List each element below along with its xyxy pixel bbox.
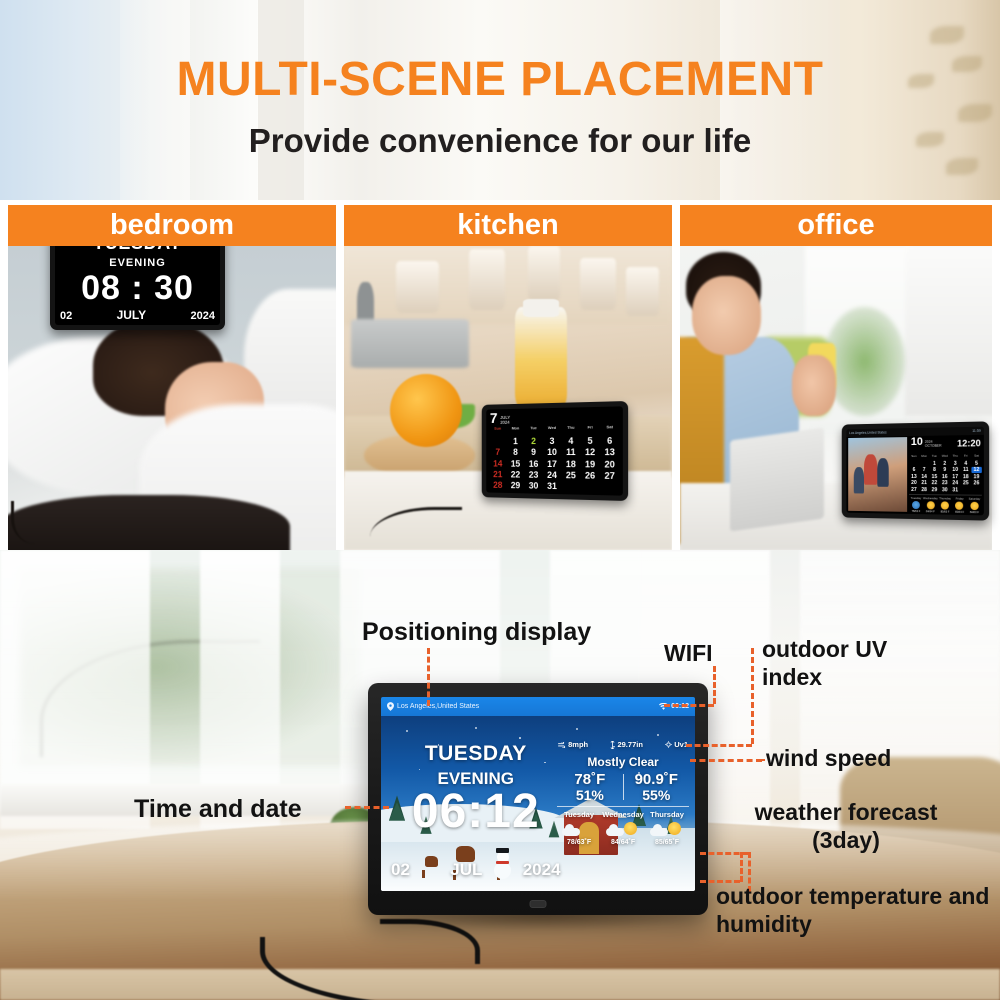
bedroom-time: 08 : 30 — [55, 269, 220, 308]
sun-icon — [926, 501, 934, 509]
forecast-day-label-2: Thursday — [645, 810, 689, 819]
kitchen-day-cell[interactable]: 15 — [507, 459, 525, 468]
kitchen-weekday-header: Mon — [507, 425, 525, 436]
office-weekday-header: Wed — [940, 454, 950, 461]
main-device: Los Angeles,United States 06:12 — [368, 683, 708, 915]
office-forecast-temp: 84/64 F — [923, 510, 938, 513]
kitchen-day-cell[interactable]: 6 — [600, 437, 620, 446]
kitchen-day-cell[interactable]: 1 — [507, 437, 525, 446]
office-forecast-day: Tuesday — [909, 496, 923, 500]
annotation-positioning-display: Positioning display — [362, 618, 591, 647]
sun-icon — [624, 822, 637, 835]
office-month-number: 10 — [911, 437, 923, 448]
annotation-outdoor-uv-index: outdoor UV index — [762, 635, 952, 691]
office-forecast-temp: 78/63 F — [909, 510, 923, 513]
bedroom-year: 2024 — [191, 310, 215, 322]
office-day-cell[interactable]: 30 — [940, 487, 950, 493]
marketing-page: MULTI-SCENE PLACEMENT Provide convenienc… — [0, 0, 1000, 1000]
office-day-cell[interactable]: 29 — [929, 487, 939, 493]
scene-photo-kitchen — [344, 246, 672, 550]
office-day-cell[interactable]: 21 — [919, 480, 929, 486]
forecast-row: Tuesday 78/63˚F Wednesday 84/64˚F Thursd… — [557, 810, 689, 846]
leader-wifi-vertical — [713, 666, 716, 704]
office-day-cell[interactable]: 12 — [971, 467, 982, 473]
office-clock: 12:20 — [957, 438, 981, 449]
kitchen-day-cell[interactable]: 10 — [543, 448, 562, 457]
kitchen-day-cell[interactable]: 5 — [580, 437, 599, 446]
office-day-cell[interactable]: 31 — [950, 487, 961, 493]
kitchen-day-cell[interactable]: 4 — [561, 437, 580, 446]
office-day-cell[interactable]: 17 — [950, 474, 961, 480]
bedroom-day: 02 — [60, 310, 72, 322]
pressure-stat: 29.77in — [610, 740, 642, 749]
kitchen-month-number: 7 — [490, 411, 498, 426]
office-day-cell[interactable]: 18 — [960, 474, 971, 480]
kitchen-day-cell[interactable]: 31 — [543, 482, 562, 491]
device-sensor — [530, 900, 547, 908]
main-time: 06:12 — [391, 788, 561, 835]
annotation-outdoor-temp-humidity: outdoor temperature and humidity — [716, 882, 996, 938]
weather-condition: Mostly Clear — [557, 755, 689, 769]
wallpaper: TUESDAY EVENING 06:12 02 JUL 2024 — [381, 716, 695, 891]
office-location: Los Angeles,United States — [849, 430, 886, 435]
office-day-cell[interactable]: 2 — [940, 461, 950, 467]
office-forecast-item: Tuesday78/63 F — [909, 495, 923, 512]
office-day-cell[interactable]: 16 — [940, 474, 950, 480]
device-office-photo-calendar: Los Angeles,United States 11:59 10 2024 … — [842, 421, 989, 520]
kitchen-day-cell[interactable]: 28 — [489, 481, 507, 490]
annotation-time-and-date: Time and date — [134, 795, 302, 824]
kitchen-day-cell[interactable]: 19 — [580, 460, 599, 469]
office-day-cell[interactable]: 5 — [971, 460, 982, 466]
annotation-wind-speed: wind speed — [766, 745, 891, 772]
annotation-wifi: WIFI — [664, 640, 713, 667]
leader-uv-vertical — [751, 648, 754, 744]
kitchen-day-cell[interactable]: 26 — [580, 471, 599, 480]
office-day-cell[interactable]: 8 — [929, 467, 939, 473]
office-forecast-row: Tuesday78/63 FWednesday84/64 FThursday85… — [909, 494, 982, 513]
rain-icon — [912, 501, 920, 509]
office-day-cell[interactable]: 3 — [950, 461, 961, 467]
office-day-cell[interactable]: 19 — [971, 474, 982, 480]
office-weekday-header: Thu — [950, 454, 961, 461]
leader-temp-vertical — [740, 852, 743, 882]
uv-icon — [665, 741, 672, 748]
scene-label-bedroom: bedroom — [8, 205, 336, 246]
kitchen-weekday-header: Fri — [580, 424, 599, 436]
office-day-cell[interactable]: 22 — [929, 480, 939, 486]
kitchen-day-cell[interactable]: 23 — [524, 470, 542, 479]
main-device-screen[interactable]: Los Angeles,United States 06:12 — [381, 697, 695, 891]
office-day-cell[interactable]: 26 — [971, 480, 982, 486]
leader-time-and-date — [345, 806, 389, 809]
scene-label-kitchen: kitchen — [344, 205, 672, 246]
office-day-cell[interactable]: 28 — [919, 487, 929, 493]
wind-stat: 8mph — [558, 740, 588, 749]
cloud-icon — [650, 828, 668, 836]
kitchen-calendar-grid: SunMonTueWedThuFriSat1234567891011121314… — [489, 424, 620, 493]
main-date-row: 02 JUL 2024 — [391, 860, 561, 880]
office-status-time: 11:59 — [972, 429, 981, 433]
office-day-cell[interactable]: 9 — [940, 467, 950, 473]
leader-uv-horizontal — [686, 744, 752, 747]
office-weekday-header: Fri — [960, 454, 971, 461]
temp-indoor: 78˚F — [557, 772, 622, 788]
pressure-icon — [610, 741, 615, 749]
office-weekday-header: Sat — [971, 453, 982, 460]
leader-wind-horizontal — [690, 759, 762, 762]
main-month: JUL — [450, 860, 482, 880]
forecast-day-2: Thursday 85/65˚F — [645, 810, 689, 846]
office-day-cell[interactable]: 15 — [929, 474, 939, 480]
office-day-cell[interactable]: 27 — [909, 487, 919, 493]
kitchen-day-cell[interactable]: 17 — [543, 460, 562, 469]
forecast-day-1: Wednesday 84/64˚F — [601, 810, 645, 846]
office-forecast-day: Friday — [952, 496, 967, 500]
main-day: 02 — [391, 860, 410, 880]
office-day-cell[interactable]: 13 — [909, 474, 919, 480]
sun-icon — [955, 502, 963, 510]
office-day-cell[interactable]: 1 — [929, 461, 939, 467]
forecast-day-0: Tuesday 78/63˚F — [557, 810, 601, 846]
kitchen-day-cell[interactable]: 9 — [524, 448, 542, 457]
page-subtitle: Provide convenience for our life — [0, 122, 1000, 160]
kitchen-day-cell[interactable]: 14 — [489, 459, 507, 468]
scene-label-office: office — [680, 205, 992, 246]
temp-outdoor: 90.9˚F — [624, 772, 689, 788]
main-year: 2024 — [523, 860, 561, 880]
forecast-day-label-1: Wednesday — [601, 810, 645, 819]
cloud-icon — [606, 828, 624, 836]
kitchen-day-cell[interactable]: 30 — [524, 481, 542, 490]
kitchen-day-cell[interactable]: 24 — [543, 471, 562, 480]
weather-readings: 78˚F 51% 90.9˚F 55% — [557, 772, 689, 802]
kitchen-weekday-header: Thu — [561, 425, 580, 436]
kitchen-day-cell[interactable]: 20 — [600, 460, 620, 469]
kitchen-day-cell[interactable]: 29 — [507, 481, 525, 490]
office-forecast-day: Thursday — [938, 496, 953, 500]
humidity-indoor: 51% — [557, 788, 622, 803]
kitchen-day-cell[interactable]: 22 — [507, 470, 525, 479]
sun-icon — [941, 501, 949, 509]
leader-wind-tick — [762, 759, 765, 761]
kitchen-day-cell[interactable]: 2 — [524, 437, 542, 446]
forecast-temp-0: 78/63˚F — [557, 839, 601, 846]
office-forecast-item: Friday83/64 F — [952, 495, 967, 513]
page-title: MULTI-SCENE PLACEMENT — [0, 52, 1000, 107]
kitchen-year: 2024 — [500, 420, 509, 425]
kitchen-weekday-header: Sat — [600, 424, 620, 436]
kitchen-day-cell[interactable]: 16 — [524, 459, 542, 468]
kitchen-day-cell[interactable]: 7 — [489, 448, 507, 457]
pressure-value: 29.77in — [617, 740, 642, 749]
office-forecast-day: Saturday — [967, 497, 982, 501]
office-forecast-temp: 85/65 F — [938, 510, 953, 513]
uv-stat: Uv1 — [665, 740, 688, 749]
office-day-cell[interactable]: 20 — [909, 480, 919, 486]
sun-icon — [668, 822, 681, 835]
bedroom-daypart: EVENING — [55, 257, 220, 269]
weather-separator — [557, 806, 689, 807]
status-location: Los Angeles,United States — [397, 703, 479, 710]
cloud-icon — [562, 828, 580, 836]
office-weekday-header: Sun — [909, 454, 919, 461]
main-clock: TUESDAY EVENING 06:12 — [391, 742, 561, 835]
kitchen-day-cell[interactable]: 3 — [543, 437, 562, 446]
kitchen-day-cell[interactable]: 18 — [561, 460, 580, 469]
humidity-outdoor: 55% — [624, 788, 689, 803]
location-pin-icon — [387, 702, 394, 711]
kitchen-day-cell[interactable]: 8 — [507, 448, 525, 457]
office-day-cell[interactable]: 25 — [960, 480, 971, 486]
kitchen-day-cell[interactable]: 13 — [600, 448, 620, 457]
weather-panel: 8mph 29.77in — [557, 740, 689, 846]
forecast-temp-1: 84/64˚F — [601, 839, 645, 846]
office-month-name: OCTOBER — [925, 444, 942, 448]
leader-wifi-horizontal — [664, 704, 714, 707]
leader-positioning-display — [427, 648, 430, 706]
office-forecast-item: Saturday84/63 F — [967, 496, 982, 514]
annotation-weather-forecast: weather forecast (3day) — [722, 798, 970, 854]
office-day-cell[interactable]: 11 — [960, 467, 971, 473]
wind-value: 8mph — [568, 740, 588, 749]
kitchen-day-cell[interactable]: 11 — [561, 448, 580, 457]
kitchen-day-cell[interactable]: 21 — [489, 470, 507, 479]
office-weekday-header: Mon — [919, 454, 929, 461]
kitchen-weekday-header: Tue — [524, 425, 542, 436]
kitchen-day-cell[interactable]: 25 — [561, 471, 580, 480]
kitchen-day-cell[interactable]: 27 — [600, 471, 620, 481]
office-photo-pane — [848, 437, 907, 512]
sun-cloud-icon — [970, 502, 978, 510]
forecast-temp-2: 85/65˚F — [645, 839, 689, 846]
forecast-day-label-0: Tuesday — [557, 810, 601, 819]
bedroom-month: JULY — [117, 308, 147, 322]
office-day-cell[interactable]: 6 — [909, 467, 919, 473]
office-forecast-temp: 84/63 F — [967, 511, 982, 514]
office-day-cell[interactable]: 14 — [919, 474, 929, 480]
kitchen-day-cell[interactable]: 12 — [580, 448, 599, 457]
office-forecast-item: Wednesday84/64 F — [923, 495, 938, 512]
office-forecast-item: Thursday85/65 F — [938, 495, 953, 512]
office-forecast-day: Wednesday — [923, 496, 938, 500]
kitchen-weekday-header: Sun — [489, 426, 507, 437]
kitchen-weekday-header: Wed — [543, 425, 562, 436]
office-day-cell[interactable]: 23 — [940, 480, 950, 486]
office-forecast-temp: 83/64 F — [952, 511, 967, 514]
office-day-cell[interactable]: 4 — [960, 460, 971, 466]
weather-stats: 8mph 29.77in — [557, 740, 689, 749]
office-day-cell[interactable]: 24 — [950, 480, 961, 486]
office-day-cell[interactable]: 10 — [950, 467, 961, 473]
office-weekday-header: Tue — [929, 454, 939, 461]
main-weekday: TUESDAY — [391, 742, 561, 766]
office-calendar-grid: SunMonTueWedThuFriSat1234567891011121314… — [909, 453, 982, 493]
wind-icon — [558, 742, 566, 748]
office-day-cell[interactable]: 7 — [919, 467, 929, 473]
device-kitchen-calendar: 7 JULY 2024 SunMonTueWedThuFriSat1234567… — [482, 401, 628, 501]
